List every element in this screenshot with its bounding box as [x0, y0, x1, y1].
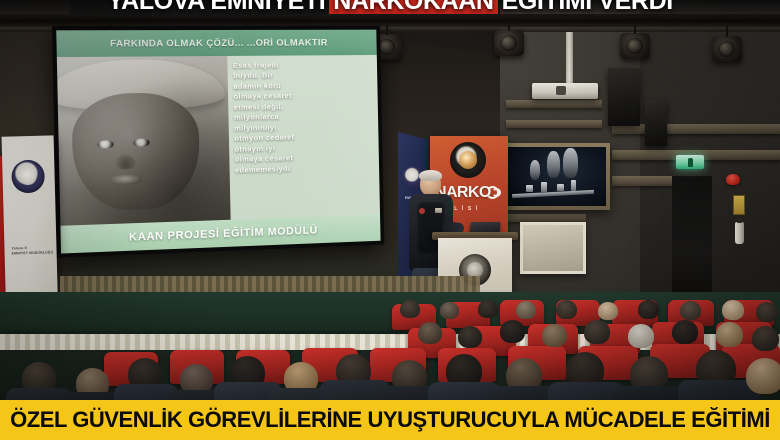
projection-screen-surface: FARKINDA OLMAK ÇÖZÜ... ...ORİ OLMAKTIR E… [56, 30, 380, 254]
audience-head [440, 302, 459, 319]
audience-head [716, 322, 743, 347]
headline-part-2: EĞİTİMİ VERDİ [502, 0, 673, 14]
rollup-banner-text: Yalova İl EMNİYET MÜDÜRLÜĞÜ [11, 245, 53, 256]
narko-ring-icon [492, 188, 501, 197]
wall-slat [506, 100, 602, 108]
headline-highlight: NARKOKAAN [329, 0, 497, 14]
slide-quote-text: Esas trajedi buydu. Bir adamın kötü olma… [228, 55, 380, 220]
police-emblem-icon [11, 160, 45, 194]
audience-head [746, 358, 780, 394]
slide-body: Esas trajedi buydu. Bir adamın kötü olma… [57, 55, 380, 226]
fire-alarm-bell-icon [726, 174, 740, 185]
stage-light [620, 33, 650, 59]
audience-head [638, 300, 659, 319]
stage-light [494, 30, 524, 56]
audience-head [722, 300, 744, 320]
wall-slat [612, 176, 672, 186]
speaker-hair [419, 170, 442, 181]
audience-head [756, 302, 778, 322]
bottom-caption: ÖZEL GÜVENLİK GÖREVLİLERİNE UYUŞTURUCUYL… [10, 407, 770, 433]
fire-extinguisher-icon [735, 222, 744, 244]
headline-part-1: YALOVA EMNİYETİ [107, 0, 325, 14]
audience-head [598, 302, 618, 320]
audience-head [500, 320, 525, 343]
framed-picture-image [508, 147, 606, 206]
photo-shading [57, 56, 231, 226]
wall-speaker [608, 68, 640, 126]
projector-lens [556, 86, 566, 95]
audience-head [458, 326, 482, 348]
top-headline: YALOVA EMNİYETİ NARKOKAAN EĞİTİMİ VERDİ [107, 0, 673, 14]
stage-light [712, 36, 742, 62]
bottom-caption-banner: ÖZEL GÜVENLİK GÖREVLİLERİNE UYUŞTURUCUYL… [0, 400, 780, 440]
speaker-badge [419, 208, 425, 214]
slide-boy-photo [57, 56, 231, 226]
audience-head [418, 322, 442, 344]
projector-mount [566, 32, 573, 84]
wall-slat [506, 214, 586, 222]
audience-head [478, 300, 498, 318]
slide-header-text: FARKINDA OLMAK ÇÖZÜ... ...ORİ OLMAKTIR [56, 30, 377, 57]
speaker-nameplate [435, 208, 442, 213]
wall-slat [506, 120, 602, 128]
rollup-line2: EMNİYET MÜDÜRLÜĞÜ [12, 251, 54, 257]
top-headline-banner: YALOVA EMNİYETİ NARKOKAAN EĞİTİMİ VERDİ [0, 0, 780, 16]
framed-picture [504, 143, 610, 210]
audience-head [752, 326, 779, 351]
wall-sign [733, 195, 745, 215]
audience-head [542, 324, 567, 347]
audience-head [672, 320, 698, 344]
audience-head [584, 320, 610, 344]
exit-sign-icon [676, 155, 704, 169]
narko-emblem-icon [450, 142, 486, 178]
audience-head [400, 300, 420, 318]
wall-speaker [645, 100, 667, 146]
audience-head [516, 301, 536, 319]
wall-panel [520, 222, 586, 274]
audience-head [556, 300, 577, 319]
doorway [672, 176, 712, 306]
projection-screen: FARKINDA OLMAK ÇÖZÜ... ...ORİ OLMAKTIR E… [52, 26, 384, 258]
exit-figure-icon [688, 158, 693, 167]
news-photo: FARKINDA OLMAK ÇÖZÜ... ...ORİ OLMAKTIR E… [0, 0, 780, 440]
audience-head [680, 301, 701, 320]
audience-head [628, 324, 654, 348]
